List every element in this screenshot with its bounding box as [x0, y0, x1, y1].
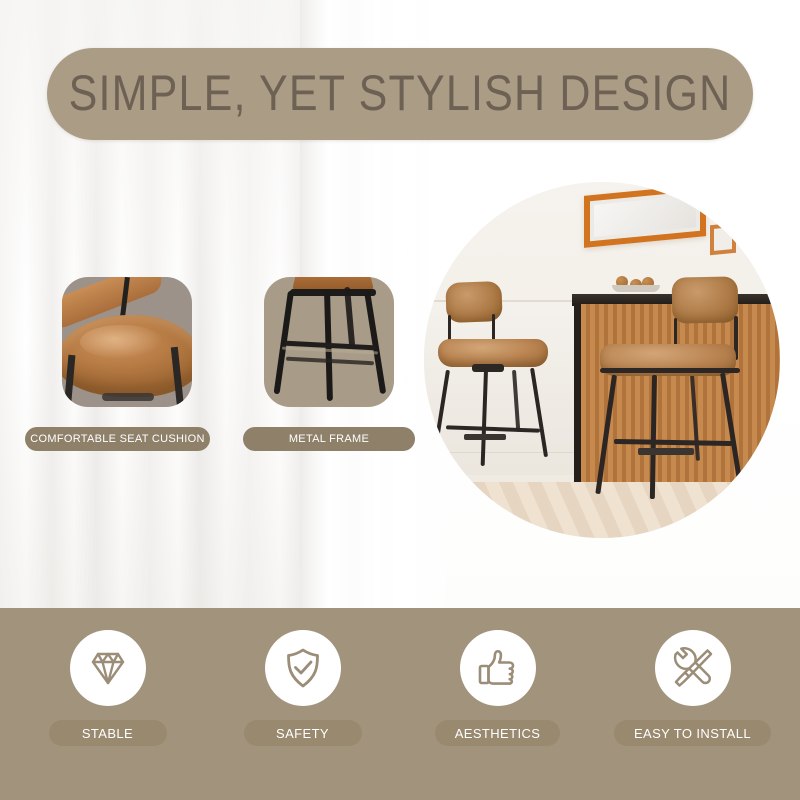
scene-framed-art-secondary [710, 223, 736, 256]
scene-floor [424, 482, 780, 538]
left-stool-footplate [464, 434, 506, 440]
detail-thumbnail-seat-cushion[interactable] [62, 277, 192, 407]
caption-seat-cushion: COMFORTABLE SEAT CUSHION [25, 427, 210, 451]
feature-label-easy-to-install: EASY TO INSTALL [614, 720, 771, 746]
feature-list: STABLE SAFETY AESTHETICS [0, 608, 800, 800]
left-stool-swivel-hub [472, 364, 504, 372]
caption-metal-frame: METAL FRAME [243, 427, 415, 451]
right-stool-seat-rail [600, 368, 740, 373]
hero-lifestyle-photo[interactable] [424, 182, 780, 538]
left-stool-seat [438, 339, 548, 367]
feature-label-stable: STABLE [49, 720, 167, 746]
header-banner: SIMPLE, YET STYLISH DESIGN [47, 48, 753, 140]
feature-item-stable[interactable]: STABLE [15, 630, 200, 746]
frame-leg-3 [364, 291, 386, 395]
feature-bar: STABLE SAFETY AESTHETICS [0, 608, 800, 800]
right-stool-footplate [638, 448, 694, 455]
scene-fruit-bowl [612, 285, 660, 292]
shield-check-icon [265, 630, 341, 706]
feature-label-aesthetics: AESTHETICS [435, 720, 561, 746]
scene-counter-panel [574, 304, 780, 494]
feature-item-easy-to-install[interactable]: EASY TO INSTALL [600, 630, 785, 746]
diamond-icon [70, 630, 146, 706]
cushion-base [102, 393, 154, 401]
wainscot-line-1 [432, 452, 592, 453]
page-title: SIMPLE, YET STYLISH DESIGN [69, 66, 732, 123]
frame-apron [290, 289, 376, 296]
right-stool-backrest [672, 276, 739, 323]
tools-icon [655, 630, 731, 706]
cushion-highlight [80, 325, 164, 359]
framed-art-canvas [594, 195, 696, 237]
feature-label-safety: SAFETY [244, 720, 362, 746]
feature-item-aesthetics[interactable]: AESTHETICS [405, 630, 590, 746]
feature-item-safety[interactable]: SAFETY [210, 630, 395, 746]
detail-thumbnail-metal-frame[interactable] [264, 277, 394, 407]
thumbs-up-icon [460, 630, 536, 706]
